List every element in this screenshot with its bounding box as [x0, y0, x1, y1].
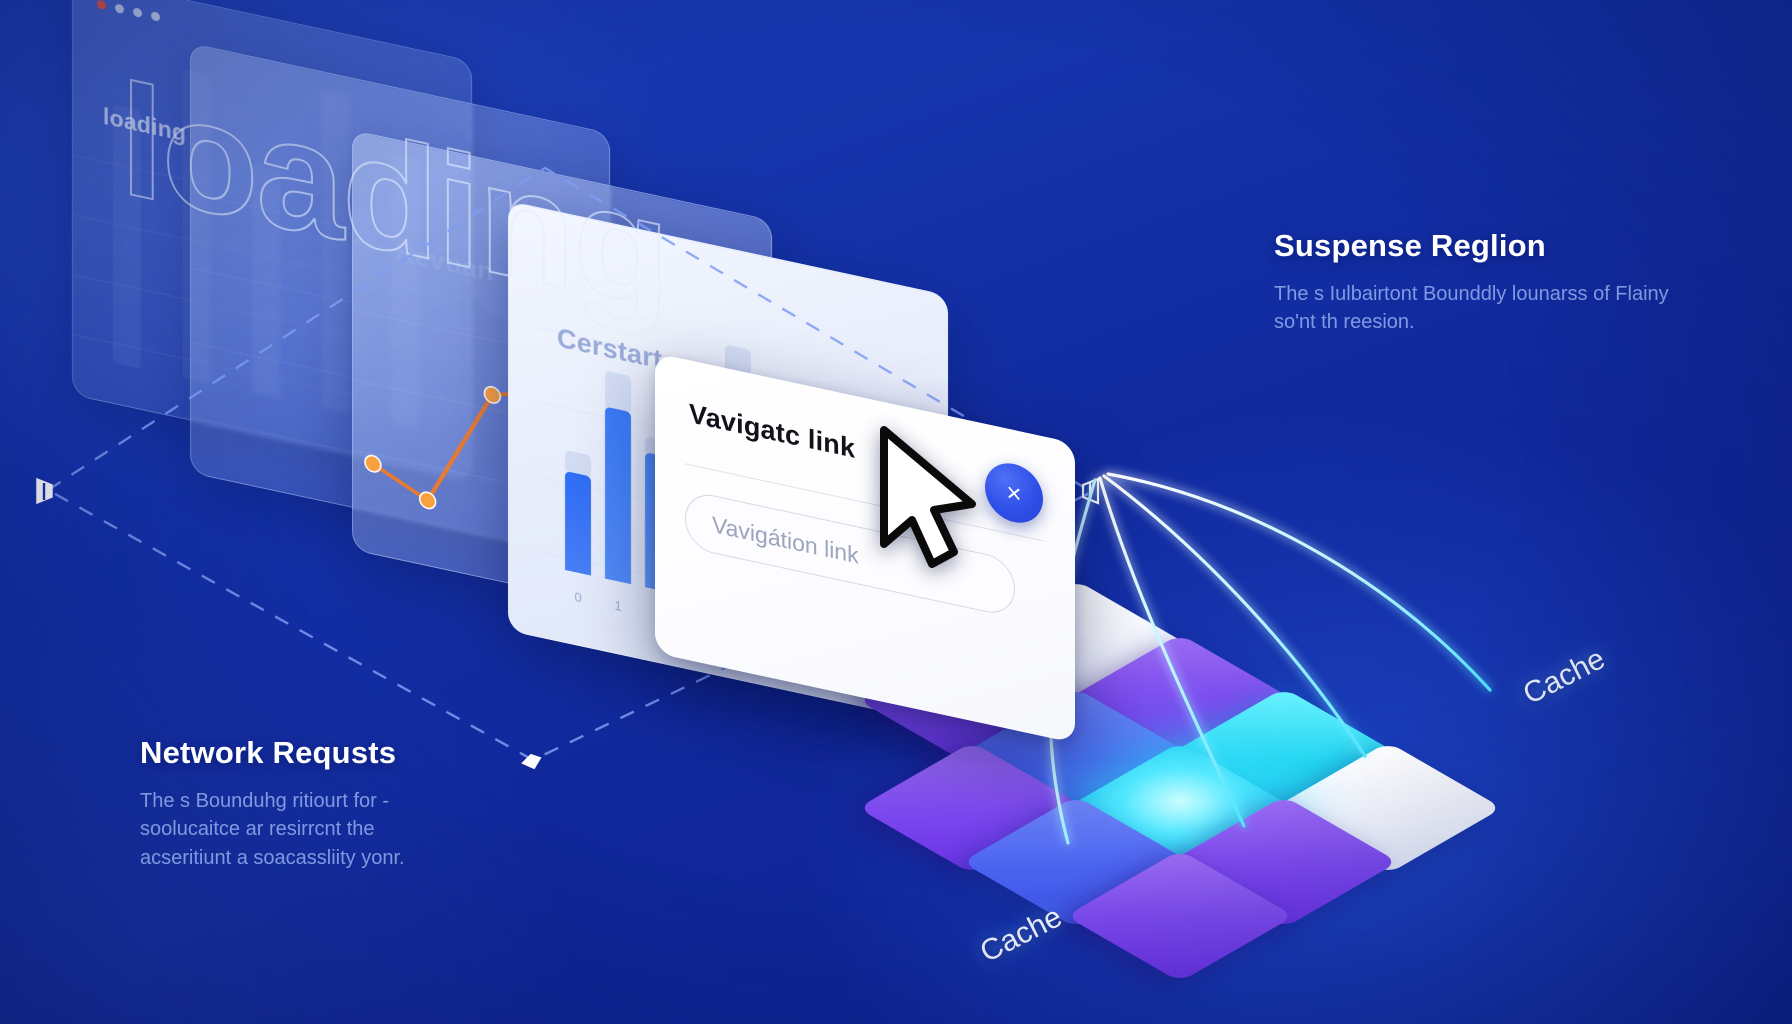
- annotation-suspense-title: Suspense Reglion: [1274, 228, 1694, 264]
- close-x-icon[interactable]: ×: [985, 458, 1043, 528]
- selection-handle-left[interactable]: [31, 475, 57, 505]
- annotation-suspense-body: The s Iulbairtont Bounddly lounarss of F…: [1274, 280, 1694, 337]
- navigate-card-title: Vavigatc link: [689, 398, 855, 465]
- mouse-pointer-icon: [874, 424, 986, 572]
- navigation-link-placeholder: Vavigátion link: [712, 511, 859, 570]
- annotation-network-requests: Network Requsts The s Bounduhg ritiourt …: [140, 735, 460, 872]
- annotation-suspense-region: Suspense Reglion The s Iulbairtont Bound…: [1274, 228, 1694, 337]
- selection-handle-bottom[interactable]: [518, 745, 544, 775]
- illustration-canvas: loading loading: [0, 0, 1792, 1024]
- annotation-network-title: Network Requsts: [140, 735, 460, 771]
- annotation-network-body: The s Bounduhg ritiourt for - soolucaitc…: [140, 787, 460, 872]
- selection-handle-right[interactable]: [1078, 475, 1104, 505]
